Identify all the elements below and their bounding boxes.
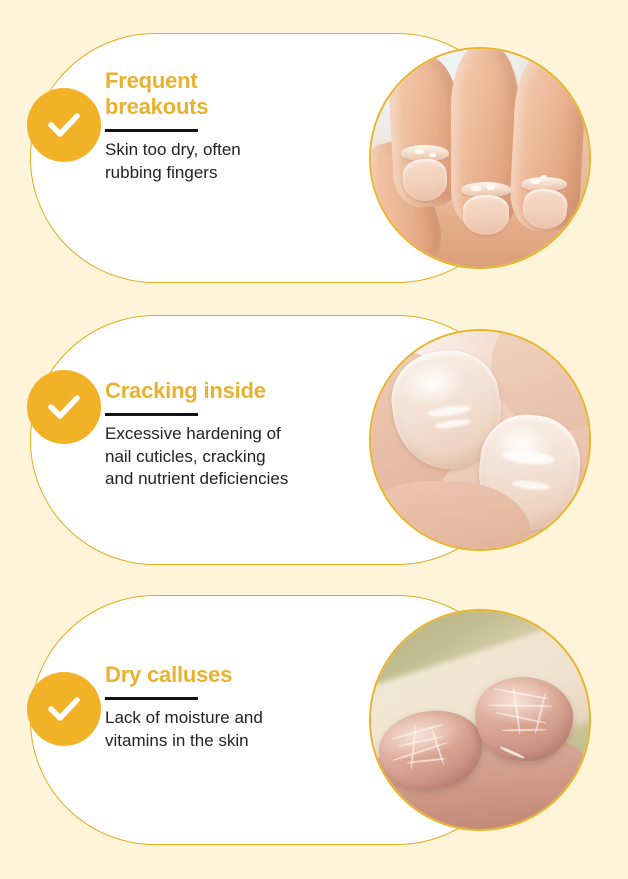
card-3-title: Dry calluses: [105, 662, 350, 688]
check-icon: [27, 370, 101, 444]
card-2-title: Cracking inside: [105, 378, 350, 404]
card-2-text: Cracking inside Excessive hardening of n…: [105, 378, 350, 491]
card-1-text: Frequent breakouts Skin too dry, often r…: [105, 68, 350, 184]
card-1-title: Frequent breakouts: [105, 68, 350, 120]
card-2-description: Excessive hardening of nail cuticles, cr…: [105, 423, 350, 491]
card-3-text: Dry calluses Lack of moisture and vitami…: [105, 662, 350, 752]
fingers-damaged-cuticles-photo: [369, 47, 591, 269]
card-1-rule: [105, 129, 198, 132]
dry-calloused-toes-photo: [369, 609, 591, 831]
check-icon: [27, 672, 101, 746]
card-3-rule: [105, 697, 198, 700]
infographic-page: Frequent breakouts Skin too dry, often r…: [0, 0, 628, 879]
check-icon: [27, 88, 101, 162]
card-2-rule: [105, 413, 198, 416]
fingernails-macro-photo: [369, 329, 591, 551]
card-3-description: Lack of moisture and vitamins in the ski…: [105, 707, 350, 753]
card-1-description: Skin too dry, often rubbing fingers: [105, 139, 350, 185]
